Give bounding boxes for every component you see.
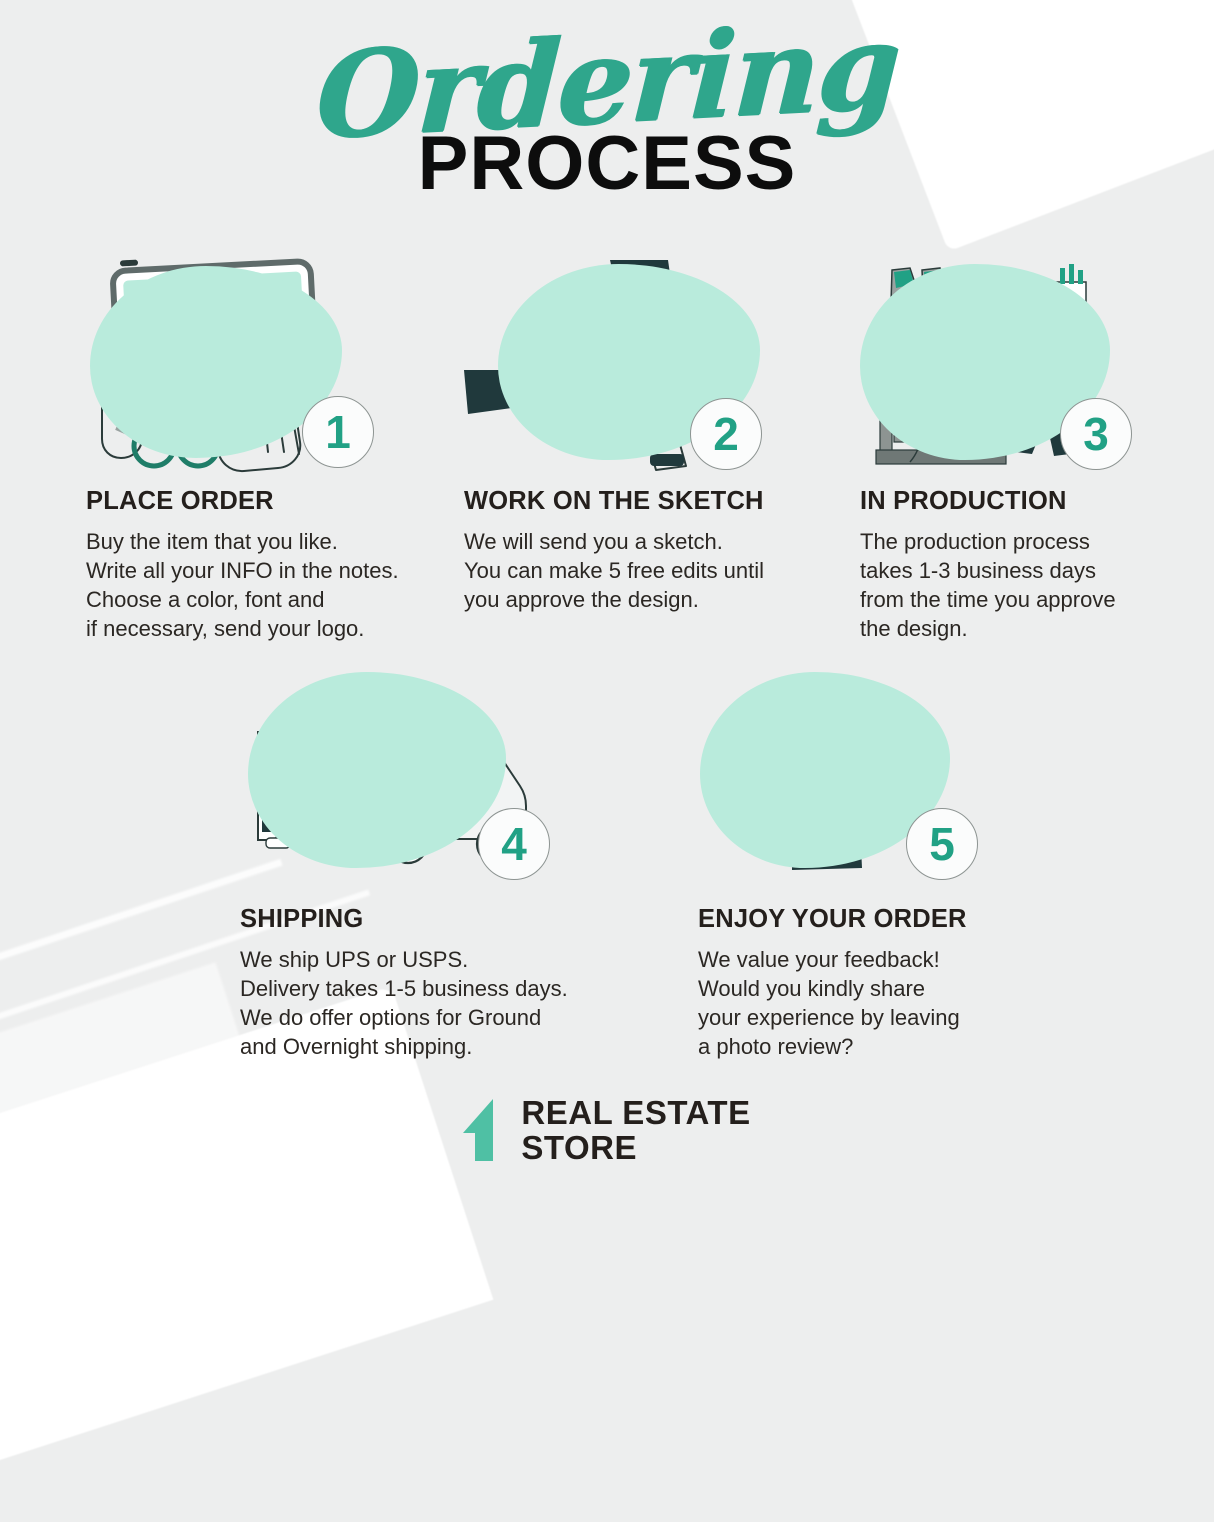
step-5-illustration: Sold 5 (698, 668, 1038, 883)
step-number-badge-1: 1 (302, 396, 374, 468)
step-title-1: PLACE ORDER (86, 487, 441, 516)
page-header: Ordering PROCESS (0, 22, 1214, 202)
step-card-4: 4 SHIPPING We ship UPS or USPS. Delivery… (240, 668, 620, 1061)
step-3-illustration: 3 (860, 258, 1180, 473)
step-card-1: BUY (86, 258, 441, 643)
step-body-5: We value your feedback! Would you kindly… (698, 945, 1038, 1061)
step-title-3: IN PRODUCTION (860, 487, 1180, 516)
step-1-illustration: BUY (86, 258, 441, 473)
step-title-5: ENJOY YOUR ORDER (698, 905, 1038, 934)
page-title-script: Ordering (313, 7, 900, 156)
step-number-badge-4: 4 (478, 808, 550, 880)
step-card-5: Sold 5 ENJOY YOUR ORDER We value your fe… (698, 668, 1038, 1061)
brand-name: REAL ESTATE STORE (521, 1095, 750, 1166)
step-card-2: Sold (464, 258, 819, 614)
step-number-badge-2: 2 (690, 398, 762, 470)
step-body-3: The production process takes 1-3 busines… (860, 527, 1180, 643)
step-body-1: Buy the item that you like. Write all yo… (86, 527, 441, 643)
footer-logo: REAL ESTATE STORE (0, 1095, 1214, 1166)
paper-edge-bottom-left (0, 986, 493, 1522)
step-number-badge-5: 5 (906, 808, 978, 880)
brand-line-1: REAL ESTATE (521, 1095, 750, 1131)
step-body-2: We will send you a sketch. You can make … (464, 527, 819, 614)
step-body-4: We ship UPS or USPS. Delivery takes 1-5 … (240, 945, 620, 1061)
step-title-2: WORK ON THE SKETCH (464, 487, 819, 516)
step-4-illustration: 4 (240, 668, 620, 883)
step-card-3: 3 IN PRODUCTION The production process t… (860, 258, 1180, 643)
step-title-4: SHIPPING (240, 905, 620, 934)
step-number-badge-3: 3 (1060, 398, 1132, 470)
brand-line-2: STORE (521, 1130, 750, 1166)
step-2-illustration: Sold (464, 258, 819, 473)
house-roof-icon (463, 1099, 507, 1161)
